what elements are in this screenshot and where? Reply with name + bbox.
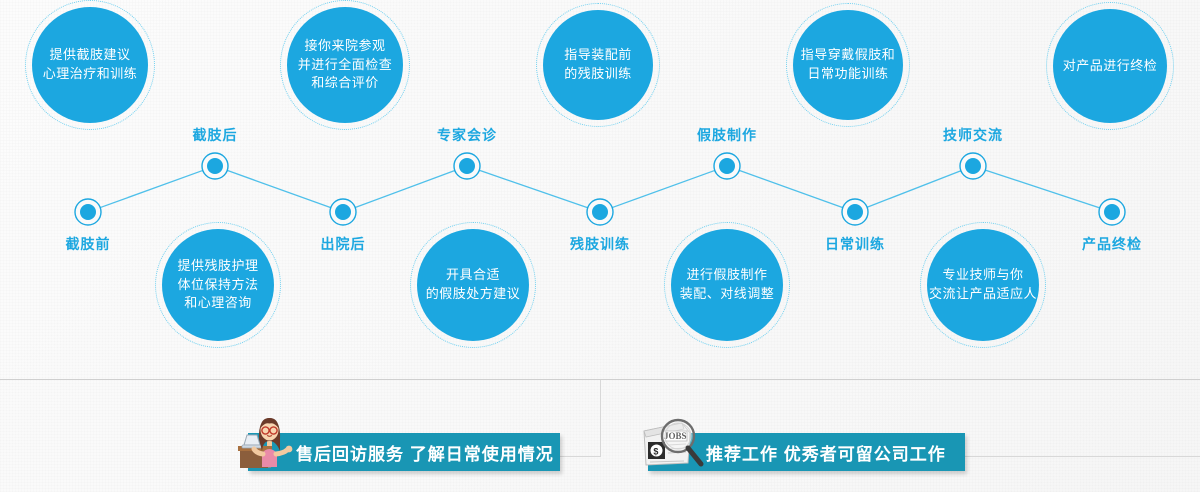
timeline-node-label-6: 日常训练	[825, 234, 885, 254]
connector-line	[985, 170, 1099, 208]
timeline-node-dot-7[interactable]	[965, 158, 981, 174]
info-bubble-8[interactable]: 专业技师与你 交流让产品适应人	[927, 229, 1039, 341]
timeline-node-dot-3[interactable]	[459, 158, 475, 174]
timeline-node-label-2: 出院后	[321, 234, 366, 254]
woman-at-desk-icon	[238, 409, 300, 471]
timeline-node-label-4: 残肢训练	[570, 234, 630, 254]
info-bubble-7[interactable]: 进行假肢制作 装配、对线调整	[671, 229, 783, 341]
page-canvas: 提供截肢建议 心理治疗和训练接你来院参观 并进行全面检查 和综合评价指导装配前 …	[0, 0, 1200, 492]
svg-text:$: $	[653, 446, 658, 456]
woman-at-desk-icon-wrap	[238, 409, 300, 492]
connector-line	[355, 171, 455, 208]
timeline-node-dot-4[interactable]	[592, 204, 608, 220]
info-bubble-4[interactable]: 对产品进行终检	[1053, 9, 1167, 123]
connector-line	[867, 171, 961, 208]
connector-line	[739, 170, 843, 207]
timeline-node-dot-1[interactable]	[207, 158, 223, 174]
timeline-node-label-7: 技师交流	[943, 125, 1003, 145]
info-bubble-3[interactable]: 指导穿戴假肢和 日常功能训练	[793, 10, 903, 120]
info-bubble-5[interactable]: 提供残肢护理 体位保持方法 和心理咨询	[162, 229, 274, 341]
timeline-node-dot-2[interactable]	[335, 204, 351, 220]
jobs-magnifier-icon-wrap: JOBS $	[638, 409, 708, 492]
divider-vertical	[600, 380, 601, 457]
timeline-node-label-0: 截肢前	[66, 234, 111, 254]
promo-banner-text-0: 售后回访服务 了解日常使用情况	[296, 440, 554, 465]
divider-mid-left	[560, 456, 600, 457]
connector-line	[612, 170, 715, 207]
connector-line	[227, 170, 331, 207]
timeline-node-dot-0[interactable]	[80, 204, 96, 220]
info-bubble-6[interactable]: 开具合适 的假肢处方建议	[417, 229, 529, 341]
promo-banner-text-1: 推荐工作 优秀者可留公司工作	[706, 440, 946, 465]
info-bubble-0[interactable]: 提供截肢建议 心理治疗和训练	[32, 7, 148, 123]
timeline-node-label-3: 专家会诊	[437, 125, 497, 145]
timeline-node-label-1: 截肢后	[193, 125, 238, 145]
info-bubble-2[interactable]: 指导装配前 的残肢训练	[543, 10, 653, 120]
timeline-node-label-8: 产品终检	[1082, 234, 1142, 254]
divider-mid-right	[965, 456, 1200, 457]
timeline-node-label-5: 假肢制作	[697, 125, 757, 145]
timeline-node-dot-5[interactable]	[719, 158, 735, 174]
timeline-node-dot-6[interactable]	[847, 204, 863, 220]
info-bubble-1[interactable]: 接你来院参观 并进行全面检查 和综合评价	[287, 7, 403, 123]
jobs-magnifier-icon: JOBS $	[638, 409, 708, 471]
connector-line	[100, 170, 203, 207]
connector-line	[479, 170, 587, 208]
timeline-node-dot-8[interactable]	[1104, 204, 1120, 220]
